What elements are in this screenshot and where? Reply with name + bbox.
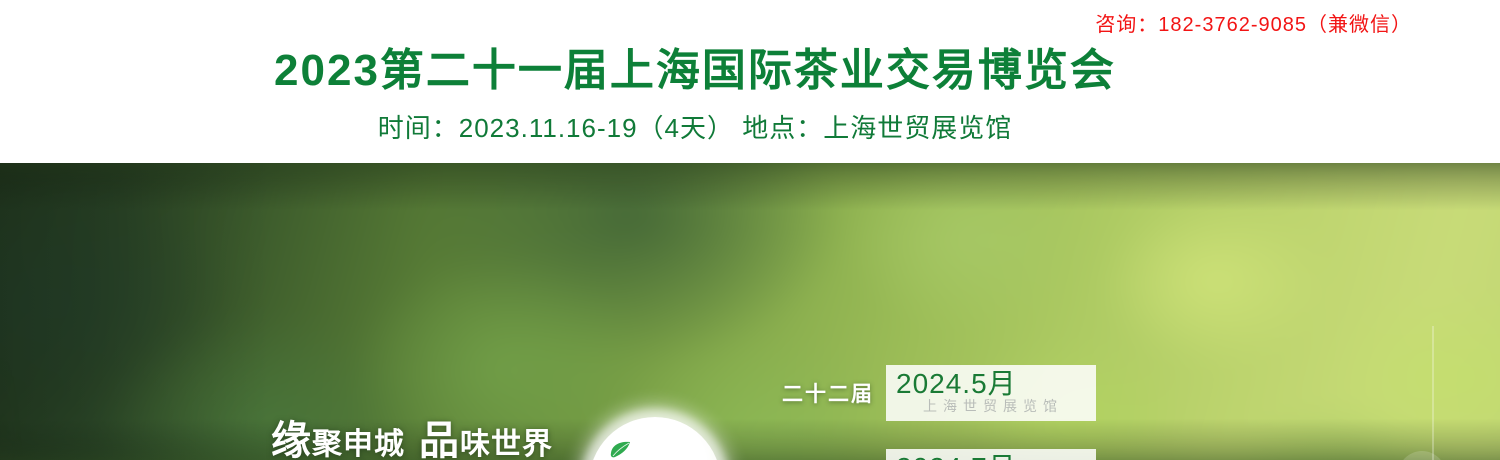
edition-row-23[interactable]: 二十三届 2024.7月 上海世贸展览馆 — [782, 450, 1122, 460]
edition-list: 二十二届 2024.5月 上海世贸展览馆 二十三届 2024.7月 上海世贸展览… — [782, 358, 1142, 460]
event-datetime-venue: 时间：2023.11.16-19（4天） 地点：上海世贸展览馆 — [0, 108, 1390, 145]
slogan-part-2: 聚申城 — [312, 428, 405, 460]
edition-card-23[interactable]: 2024.7月 上海世贸展览馆 — [886, 449, 1096, 460]
edition-date-22: 2024.5月 — [896, 369, 1086, 398]
banner-vignette — [0, 163, 1500, 460]
edition-card-22[interactable]: 2024.5月 上海世贸展览馆 — [886, 365, 1096, 421]
page-root: 咨询：182-3762-9085（兼微信） 2023第二十一届上海国际茶业交易博… — [0, 0, 1500, 460]
edition-venue-22: 上海世贸展览馆 — [896, 398, 1086, 416]
page-title: 2023第二十一届上海国际茶业交易博览会 — [0, 34, 1390, 98]
slogan-char-3: 品 — [419, 419, 460, 460]
contact-phone: 咨询：182-3762-9085（兼微信） — [1095, 8, 1412, 37]
edition-label-22: 二十二届 — [782, 378, 886, 408]
page-header: 咨询：182-3762-9085（兼微信） 2023第二十一届上海国际茶业交易博… — [0, 0, 1500, 163]
edition-date-23: 2024.7月 — [896, 453, 1086, 460]
slogan-char-1: 缘 — [271, 419, 312, 460]
slide-seam — [1432, 326, 1434, 460]
slogan-part-4: 味世界 — [460, 428, 553, 460]
banner-slogan: 缘聚申城品味世界 SHANGHAI INTERNATIONAL TEA TRAD… — [262, 421, 562, 460]
teaexpo-logo: teaexpo shanghai2023 — [573, 401, 737, 460]
hero-carousel[interactable]: 缘聚申城品味世界 SHANGHAI INTERNATIONAL TEA TRAD… — [0, 163, 1500, 460]
leaf-icon — [609, 441, 631, 459]
edition-row-22[interactable]: 二十二届 2024.5月 上海世贸展览馆 — [782, 366, 1122, 420]
slogan-chinese: 缘聚申城品味世界 — [262, 421, 562, 460]
